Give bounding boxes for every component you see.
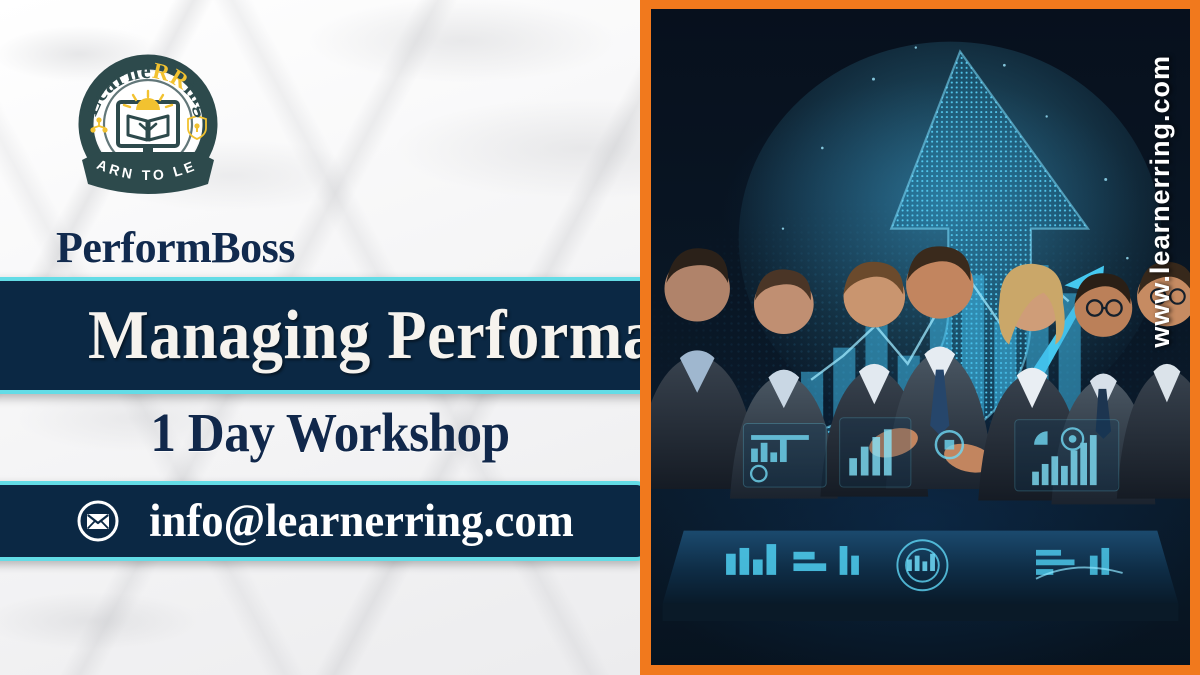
email-address: info@learnerring.com (150, 498, 575, 545)
hero-image: www.learnerring.com (651, 9, 1190, 665)
brand-name: PerformBoss (56, 222, 295, 273)
event-poster: LearneRRing LEARN TO LEAD PerformBoss Ma… (0, 0, 1200, 675)
holographic-table (651, 521, 1190, 665)
contact-email-bar[interactable]: info@learnerring.com (0, 481, 650, 561)
learnerring-logo: LearneRRing LEARN TO LEAD (68, 48, 228, 208)
website-url: www.learnerring.com (1145, 55, 1176, 348)
image-panel-frame: www.learnerring.com (640, 0, 1200, 675)
workshop-duration: 1 Day Workshop (23, 404, 637, 462)
envelope-circle-icon (76, 499, 120, 543)
